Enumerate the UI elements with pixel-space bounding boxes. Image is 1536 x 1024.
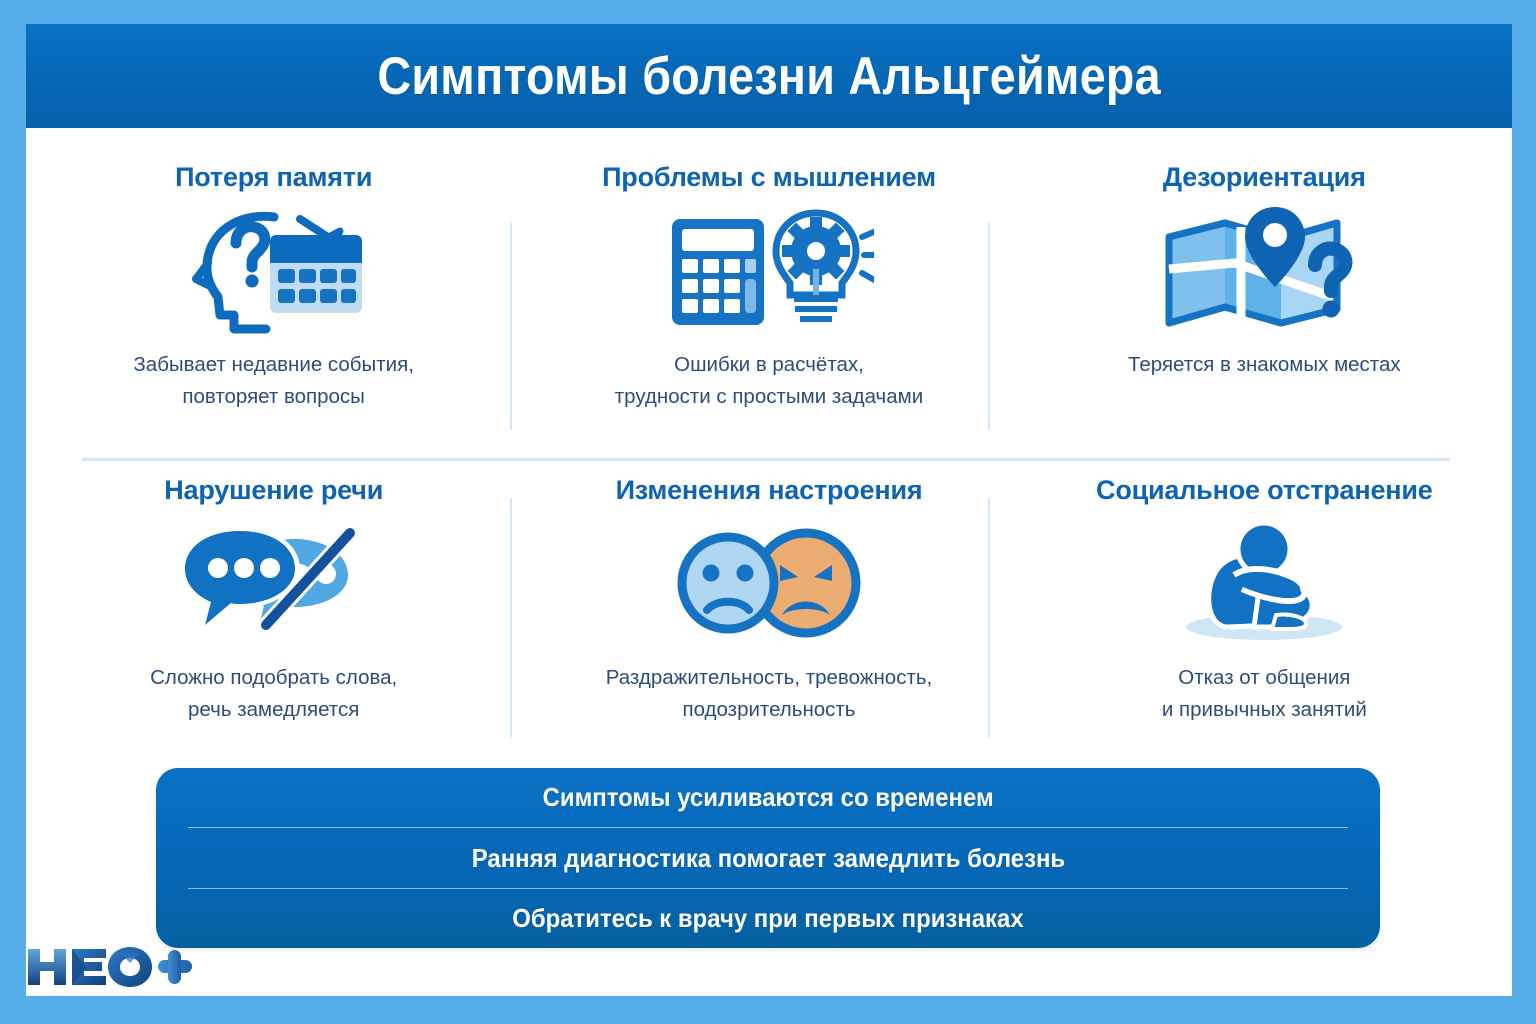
callout-line-1: Симптомы усиливаются со временем xyxy=(542,768,993,827)
card-description-line1: Отказ от общения xyxy=(1178,666,1350,689)
card-title: Социальное отстранение xyxy=(1096,475,1433,506)
symptom-row-1: Потеря памяти xyxy=(26,162,1512,462)
sitting-person-icon xyxy=(1164,512,1364,654)
card-description: Отказ от общения и привычных занятий xyxy=(1162,662,1367,726)
speech-bubbles-slash-icon xyxy=(174,512,374,654)
card-description-line2: подозрительность xyxy=(682,698,855,721)
card-description-line2: и привычных занятий xyxy=(1162,698,1367,721)
card-description-line1: Ошибки в расчётах, xyxy=(674,353,864,376)
card-description: Теряется в знакомых местах xyxy=(1128,349,1401,381)
card-thinking-problems: Проблемы с мышлением xyxy=(521,162,1016,462)
card-title: Проблемы с мышлением xyxy=(602,162,936,193)
card-title: Нарушение речи xyxy=(164,475,383,506)
calculator-lightbulb-gear-icon xyxy=(664,199,874,341)
card-description-line2: повторяет вопросы xyxy=(182,385,365,408)
sad-angry-faces-icon xyxy=(664,512,874,654)
symptom-row-2: Нарушение речи xyxy=(26,475,1512,775)
map-pin-question-icon xyxy=(1157,199,1372,341)
symptom-grid: Потеря памяти xyxy=(26,150,1512,760)
card-title: Потеря памяти xyxy=(175,162,372,193)
card-description-line2: трудности с простыми задачами xyxy=(615,385,923,408)
card-description-line1: Забывает недавние события, xyxy=(133,353,414,376)
page-title: Симптомы болезни Альцгеймера xyxy=(377,46,1160,107)
callout-line-3: Обратитесь к врачу при первых признаках xyxy=(512,889,1023,948)
infographic-poster: Симптомы болезни Альцгеймера Потеря памя… xyxy=(0,0,1536,1024)
card-title: Дезориентация xyxy=(1163,162,1366,193)
card-mood-changes: Изменения настроения xyxy=(521,475,1016,775)
card-description-line2: речь замедляется xyxy=(188,698,359,721)
neo-plus-logo xyxy=(24,944,194,988)
card-social-withdrawal: Социальное отстранение xyxy=(1017,475,1512,775)
card-speech-impairment: Нарушение речи xyxy=(26,475,521,775)
card-memory-loss: Потеря памяти xyxy=(26,162,521,462)
card-description: Ошибки в расчётах, трудности с простыми … xyxy=(615,349,923,413)
head-question-calendar-icon xyxy=(174,199,374,341)
card-description-line1: Сложно подобрать слова, xyxy=(150,666,397,689)
header-banner: Симптомы болезни Альцгеймера xyxy=(26,24,1512,128)
callout-line-2: Ранняя диагностика помогает замедлить бо… xyxy=(471,828,1064,887)
card-description: Забывает недавние события, повторяет воп… xyxy=(133,349,414,413)
key-messages-callout: Симптомы усиливаются со временем Ранняя … xyxy=(156,768,1380,948)
card-description: Раздражительность, тревожность, подозрит… xyxy=(606,662,932,726)
card-title: Изменения настроения xyxy=(616,475,923,506)
card-disorientation: Дезориентация xyxy=(1017,162,1512,462)
card-description-line1: Раздражительность, тревожность, xyxy=(606,666,932,689)
card-description: Сложно подобрать слова, речь замедляется xyxy=(150,662,397,726)
card-description-line1: Теряется в знакомых местах xyxy=(1128,353,1401,376)
